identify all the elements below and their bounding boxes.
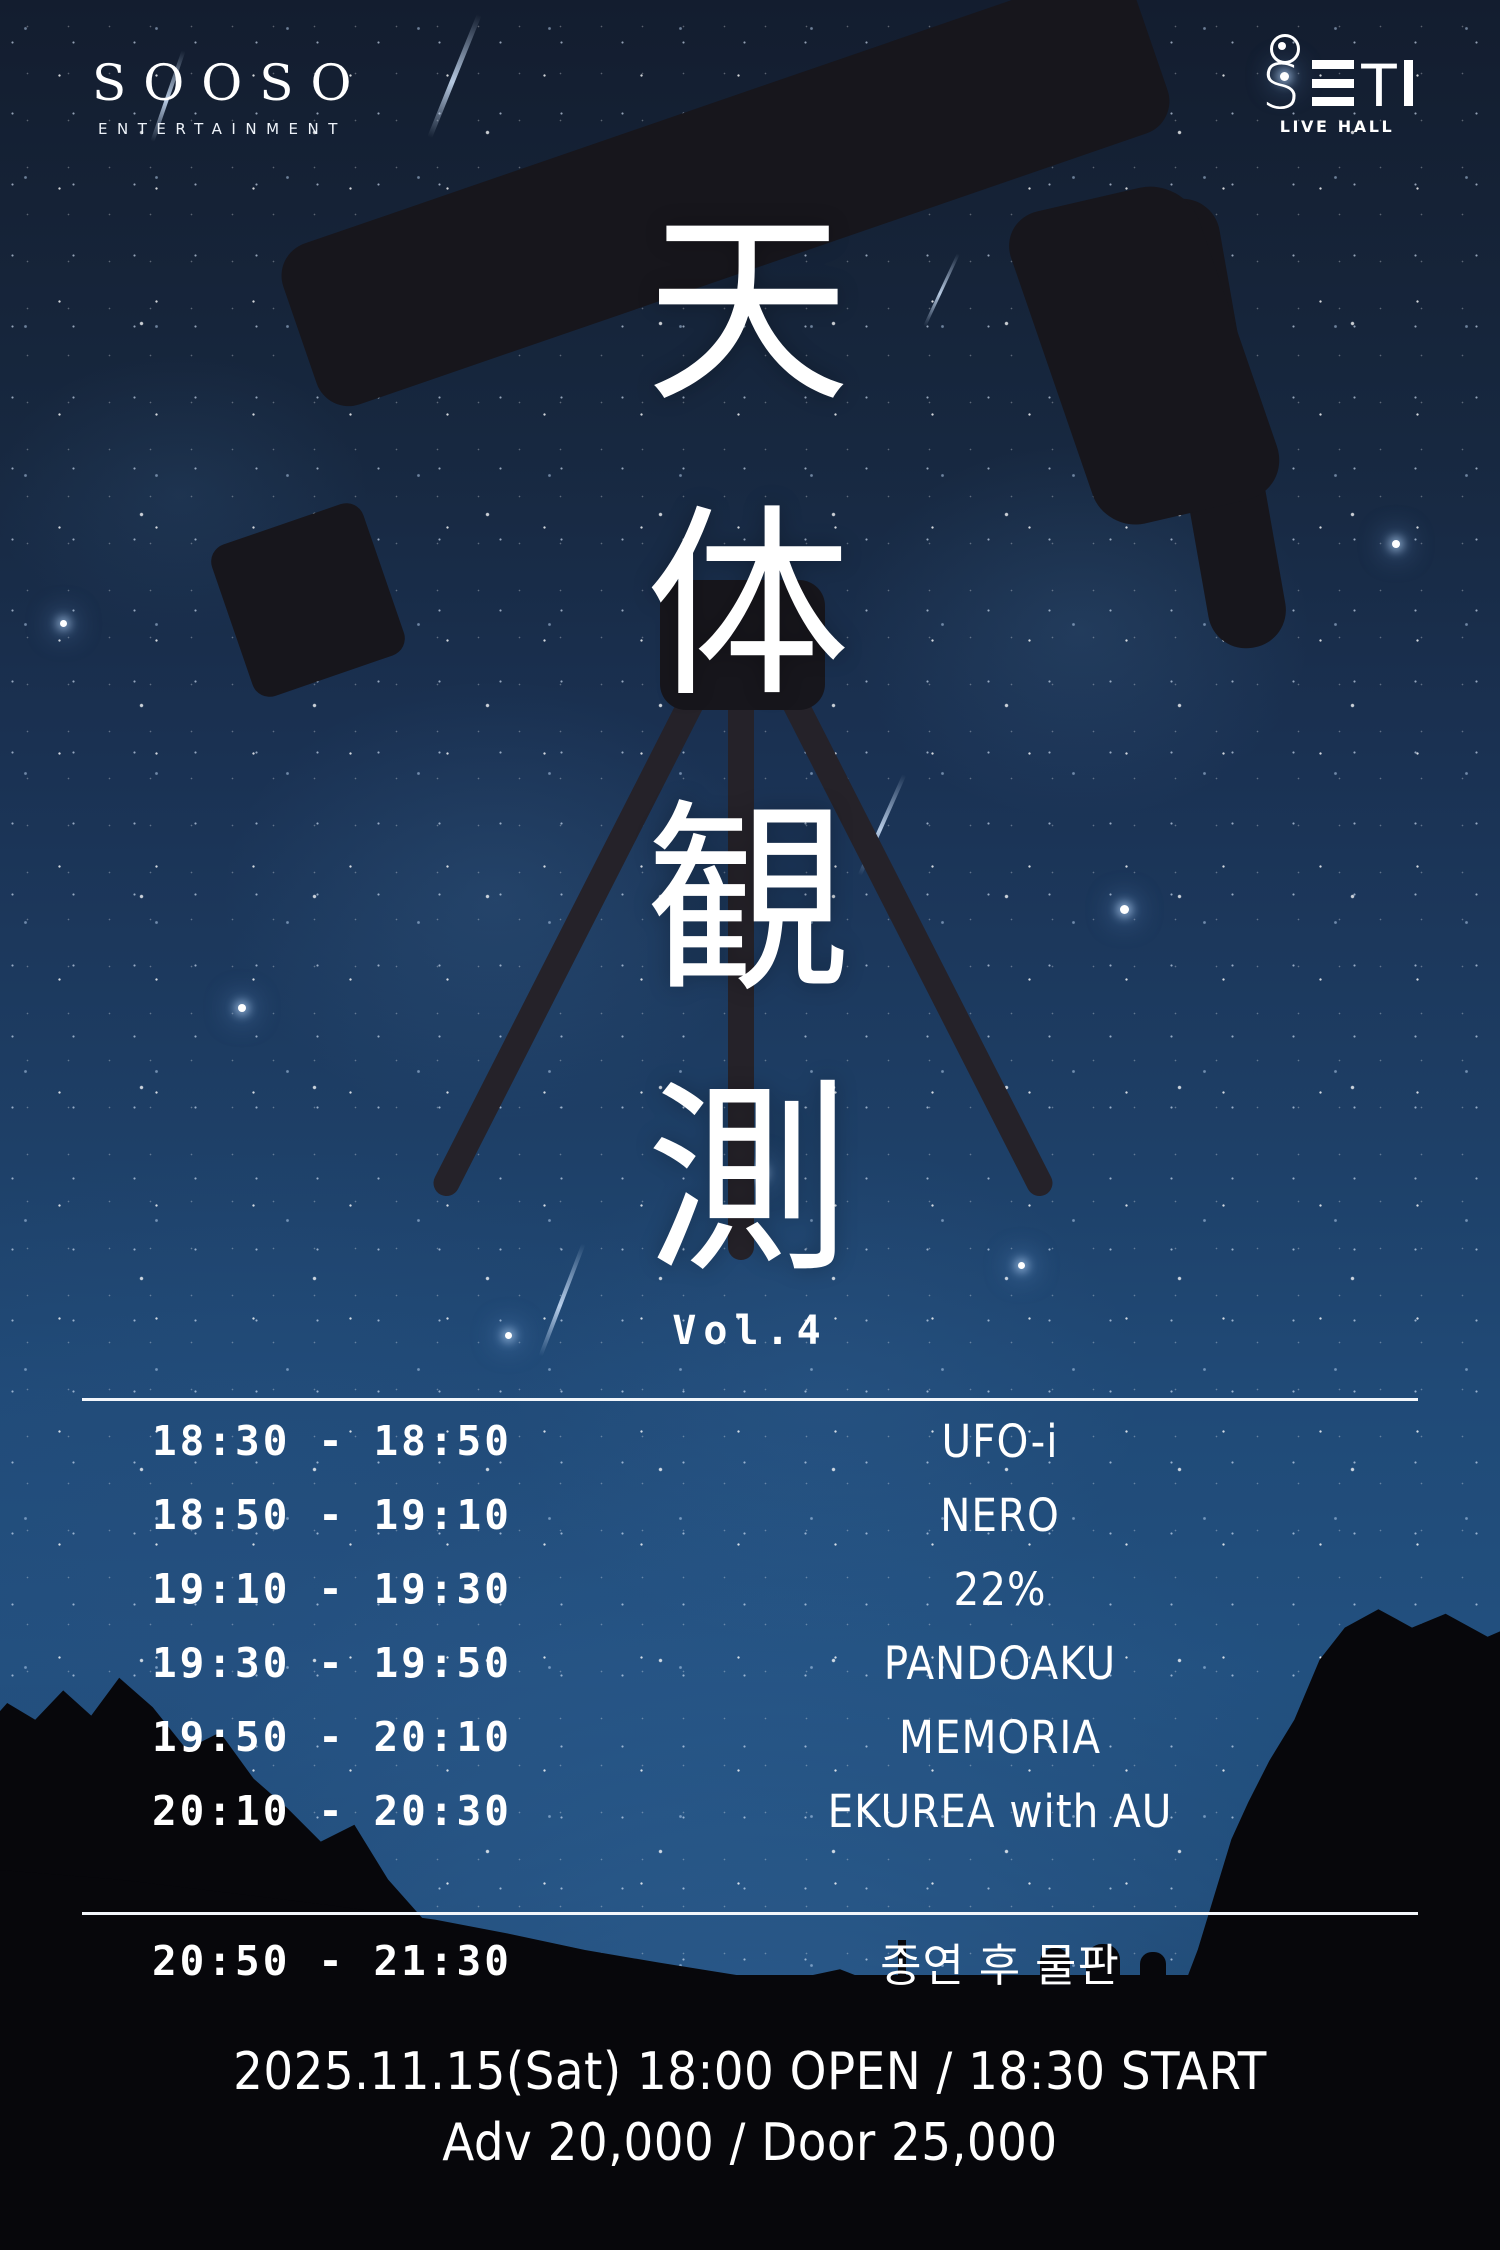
after-act: 종연 후 물판 [642, 1929, 1418, 1994]
bright-star [1392, 540, 1400, 548]
bright-star [1120, 905, 1129, 914]
title-char-3: 観 [633, 800, 863, 1005]
seti-letter-s: S [1261, 60, 1300, 114]
after-time: 20:50 - 21:30 [82, 1937, 642, 1985]
bright-star [1018, 1262, 1025, 1269]
sooso-tagline: ENTERTAINMENT [98, 120, 368, 138]
timetable: 18:30 - 18:50 UFO-i 18:50 - 19:10 NERO 1… [82, 1412, 1418, 1856]
sooso-wordmark: SOOSO [92, 58, 368, 108]
seti-live-hall-logo: S T LIVE HALL [1242, 46, 1432, 136]
seti-s-group: S [1261, 50, 1305, 108]
row-act: UFO-i [642, 1415, 1418, 1468]
event-poster: SOOSO ENTERTAINMENT S T LIVE HALL 天 体 観 … [0, 0, 1500, 2250]
after-party-row: 20:50 - 21:30 종연 후 물판 [82, 1930, 1418, 1992]
bright-star [238, 1004, 246, 1012]
event-details: 2025.11.15(Sat) 18:00 OPEN / 18:30 START… [0, 2040, 1500, 2176]
table-row: 18:50 - 19:10 NERO [82, 1486, 1418, 1544]
title-char-1: 天 [633, 210, 863, 415]
row-act: PANDOAKU [642, 1637, 1418, 1690]
title-char-4: 測 [633, 1080, 863, 1285]
seti-letter-i-icon [1404, 60, 1413, 106]
timetable-rule-top [82, 1398, 1418, 1401]
seti-letter-t: T [1361, 62, 1396, 110]
table-row: 19:30 - 19:50 PANDOAKU [82, 1634, 1418, 1692]
seti-wordmark: S T [1242, 46, 1432, 108]
event-date-time: 2025.11.15(Sat) 18:00 OPEN / 18:30 START [0, 2040, 1500, 2105]
row-time: 18:30 - 18:50 [82, 1417, 642, 1465]
row-time: 18:50 - 19:10 [82, 1491, 642, 1539]
bar [1312, 79, 1354, 88]
table-row: 19:10 - 19:30 22% [82, 1560, 1418, 1618]
event-price: Adv 20,000 / Door 25,000 [0, 2111, 1500, 2176]
row-act: 22% [642, 1563, 1418, 1616]
bar [1312, 60, 1354, 69]
seti-letter-e-bars-icon [1312, 60, 1354, 106]
row-act: NERO [642, 1489, 1418, 1542]
timetable-rule-bottom [82, 1912, 1418, 1915]
bright-star [60, 620, 67, 627]
bar [1312, 97, 1354, 106]
row-time: 19:50 - 20:10 [82, 1713, 642, 1761]
row-time: 19:30 - 19:50 [82, 1639, 642, 1687]
row-act: EKUREA with AU [642, 1785, 1418, 1838]
sooso-logo: SOOSO ENTERTAINMENT [92, 58, 368, 138]
table-row: 20:10 - 20:30 EKUREA with AU [82, 1782, 1418, 1840]
row-time: 19:10 - 19:30 [82, 1565, 642, 1613]
row-time: 20:10 - 20:30 [82, 1787, 642, 1835]
volume-label: Vol.4 [0, 1308, 1500, 1354]
row-act: MEMORIA [642, 1711, 1418, 1764]
table-row: 19:50 - 20:10 MEMORIA [82, 1708, 1418, 1766]
title-char-2: 体 [633, 505, 863, 710]
table-row: 18:30 - 18:50 UFO-i [82, 1412, 1418, 1470]
